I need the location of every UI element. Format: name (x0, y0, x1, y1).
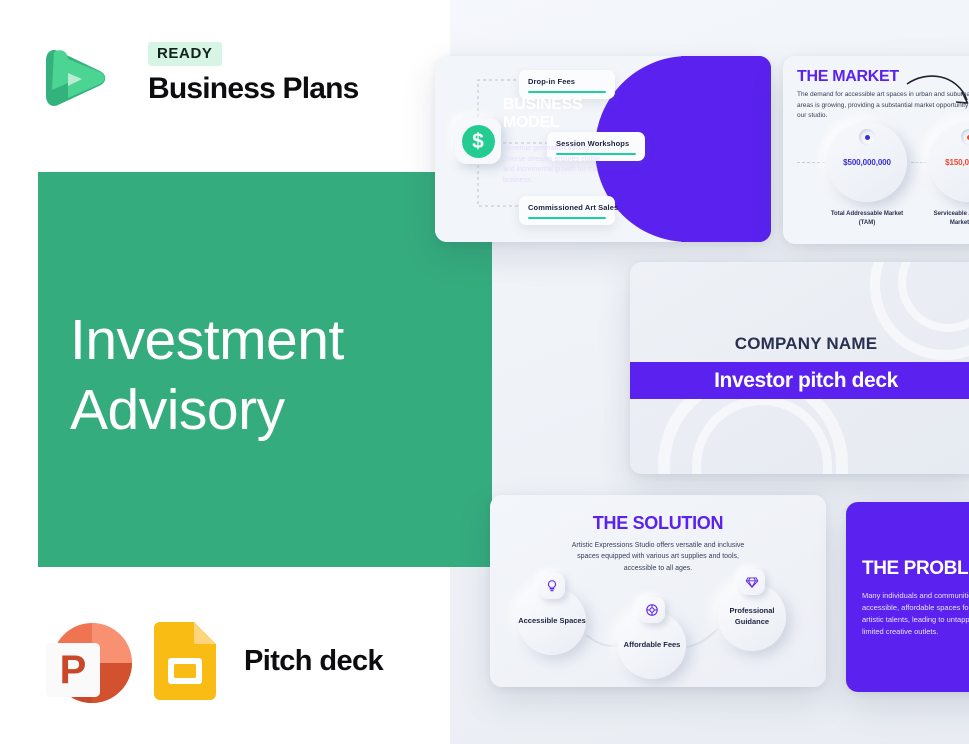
page-title: Investment Advisory (70, 305, 490, 445)
solution-node-label: Affordable Fees (624, 640, 681, 651)
problem-title: THE PROBLEM (862, 558, 969, 580)
slide-problem[interactable]: THE PROBLEM Many individuals and communi… (846, 502, 969, 692)
ready-badge: READY (148, 42, 222, 66)
dollar-symbol: $ (462, 125, 495, 158)
diamond-icon (739, 569, 765, 595)
market-metric-dot-holder (961, 129, 969, 145)
google-slides-icon (154, 622, 216, 700)
solution-node-label: Professional Guidance (718, 606, 786, 628)
solution-node[interactable]: Accessible Spaces (518, 587, 586, 655)
market-metric-caption: Total Addressable Market (TAM) (827, 210, 907, 227)
slide-business-model[interactable]: $ Drop-in Fees Session Workshops Commiss… (435, 56, 771, 242)
market-metric[interactable]: $500,000,000 Total Addressable Market (T… (827, 122, 907, 227)
market-metric-circle: $150,000,000 (929, 122, 969, 202)
lightbulb-icon (539, 573, 565, 599)
brand-name: Business Plans (148, 72, 359, 106)
page-title-line-2: Advisory (70, 375, 490, 445)
page-title-line-1: Investment (70, 305, 490, 375)
poster-stage: Investment Advisory READY Business Plans (0, 0, 969, 744)
market-metric-caption: Serviceable Addressable Market (SAM) (929, 210, 969, 227)
market-metric-amount: $150,000,000 (929, 158, 969, 167)
market-metric-dot (865, 135, 870, 140)
business-model-item[interactable]: Commissioned Art Sales (519, 196, 615, 225)
lifebuoy-icon (639, 597, 665, 623)
market-dash-mid (911, 162, 927, 163)
market-metric-dot-holder (859, 129, 875, 145)
market-dash-left (797, 162, 825, 163)
business-model-item-label: Commissioned Art Sales (528, 203, 606, 212)
solution-node[interactable]: Affordable Fees (618, 611, 686, 679)
market-title: THE MARKET (797, 68, 899, 86)
footer: P Pitch deck (40, 615, 383, 707)
business-model-item[interactable]: Drop-in Fees (519, 70, 615, 99)
business-model-title: BUSINESS MODEL (503, 96, 607, 132)
problem-description: Many individuals and communities lack ac… (862, 590, 969, 639)
brand-logo[interactable]: READY Business Plans (38, 36, 358, 122)
market-metric[interactable]: $150,000,000 Serviceable Addressable Mar… (929, 122, 969, 227)
company-subtitle: Investor pitch deck (714, 369, 898, 393)
dollar-icon: $ (455, 118, 501, 164)
brand-logo-text: READY Business Plans (148, 42, 359, 106)
slide-market[interactable]: THE MARKET The demand for accessible art… (783, 56, 969, 244)
slide-company-title[interactable]: COMPANY NAME Investor pitch deck (630, 262, 969, 474)
business-model-description: Revenue generation through diverse strea… (503, 144, 603, 186)
market-description: The demand for accessible art spaces in … (797, 90, 969, 122)
company-name: COMPANY NAME (630, 334, 969, 354)
solution-node[interactable]: Professional Guidance (718, 583, 786, 651)
powerpoint-icon: P (40, 615, 132, 707)
market-metric-circle: $500,000,000 (827, 122, 907, 202)
powerpoint-letter: P (60, 648, 87, 692)
business-model-item-bar (528, 91, 606, 93)
footer-label: Pitch deck (244, 645, 383, 678)
business-model-item-label: Drop-in Fees (528, 77, 606, 86)
play-triangle-logo-icon (38, 38, 110, 118)
market-metric-amount: $500,000,000 (827, 158, 907, 167)
solution-node-label: Accessible Spaces (518, 616, 586, 627)
company-subtitle-bar: Investor pitch deck (630, 362, 969, 399)
slide-solution[interactable]: THE SOLUTION Artistic Expressions Studio… (490, 495, 826, 687)
business-model-item-bar (528, 217, 606, 219)
